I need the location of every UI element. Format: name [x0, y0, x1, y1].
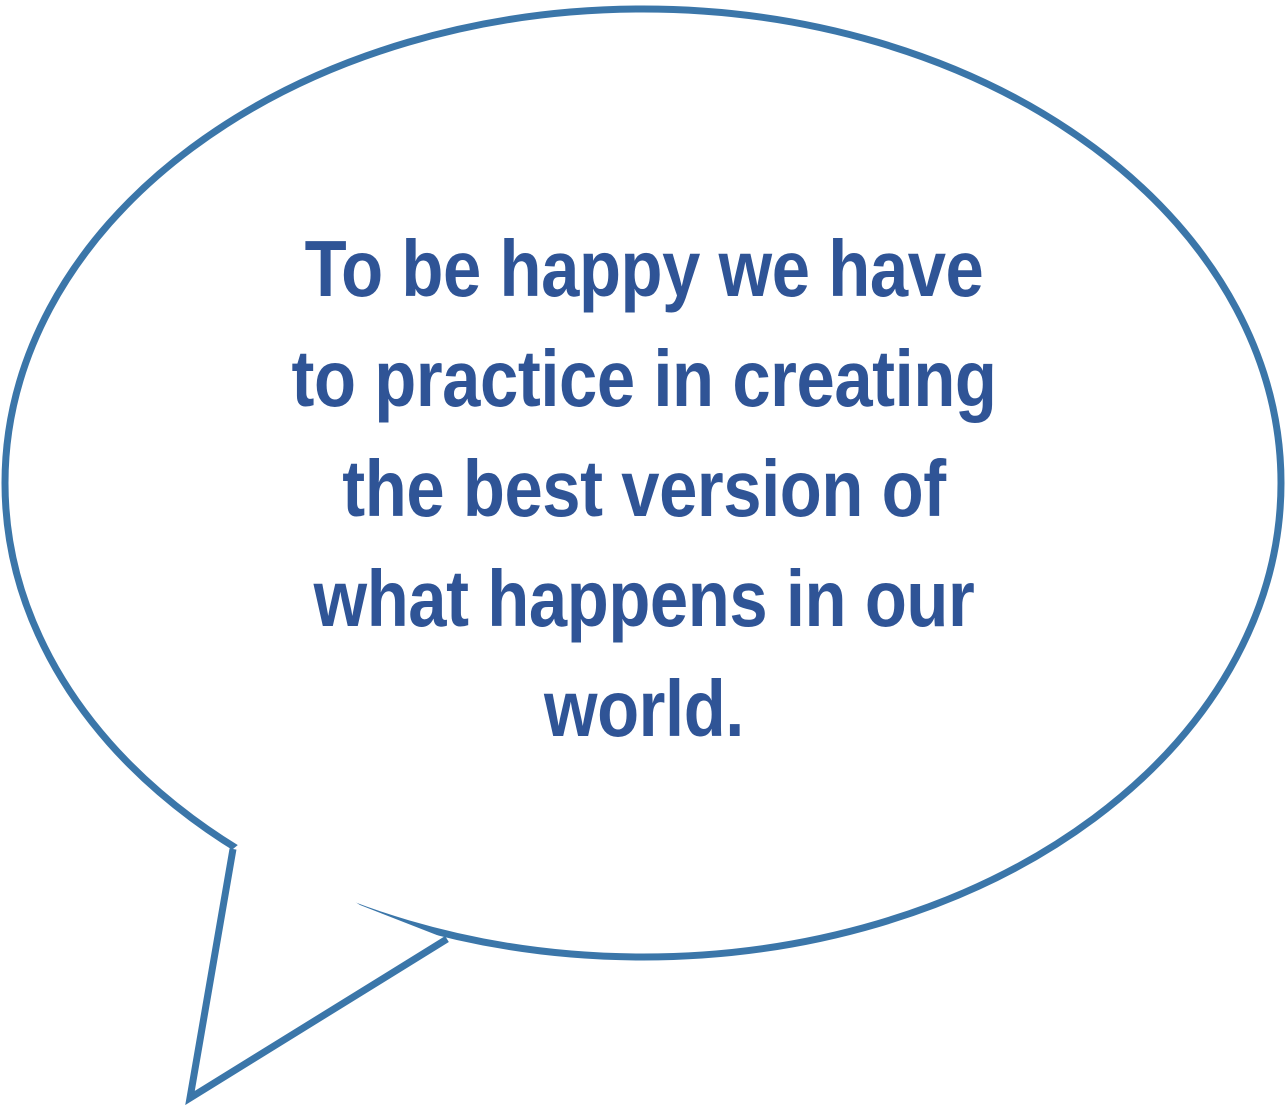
quote-line-4: what happens in our: [274, 544, 1014, 654]
quote-line-2: to practice in creating: [274, 324, 1014, 434]
image-canvas: To be happy we have to practice in creat…: [0, 0, 1288, 1105]
quote-line-3: the best version of: [274, 434, 1014, 544]
quote-line-1: To be happy we have: [274, 214, 1014, 324]
quote-line-5: world.: [274, 654, 1014, 764]
quote-text-block: To be happy we have to practice in creat…: [214, 214, 1074, 754]
